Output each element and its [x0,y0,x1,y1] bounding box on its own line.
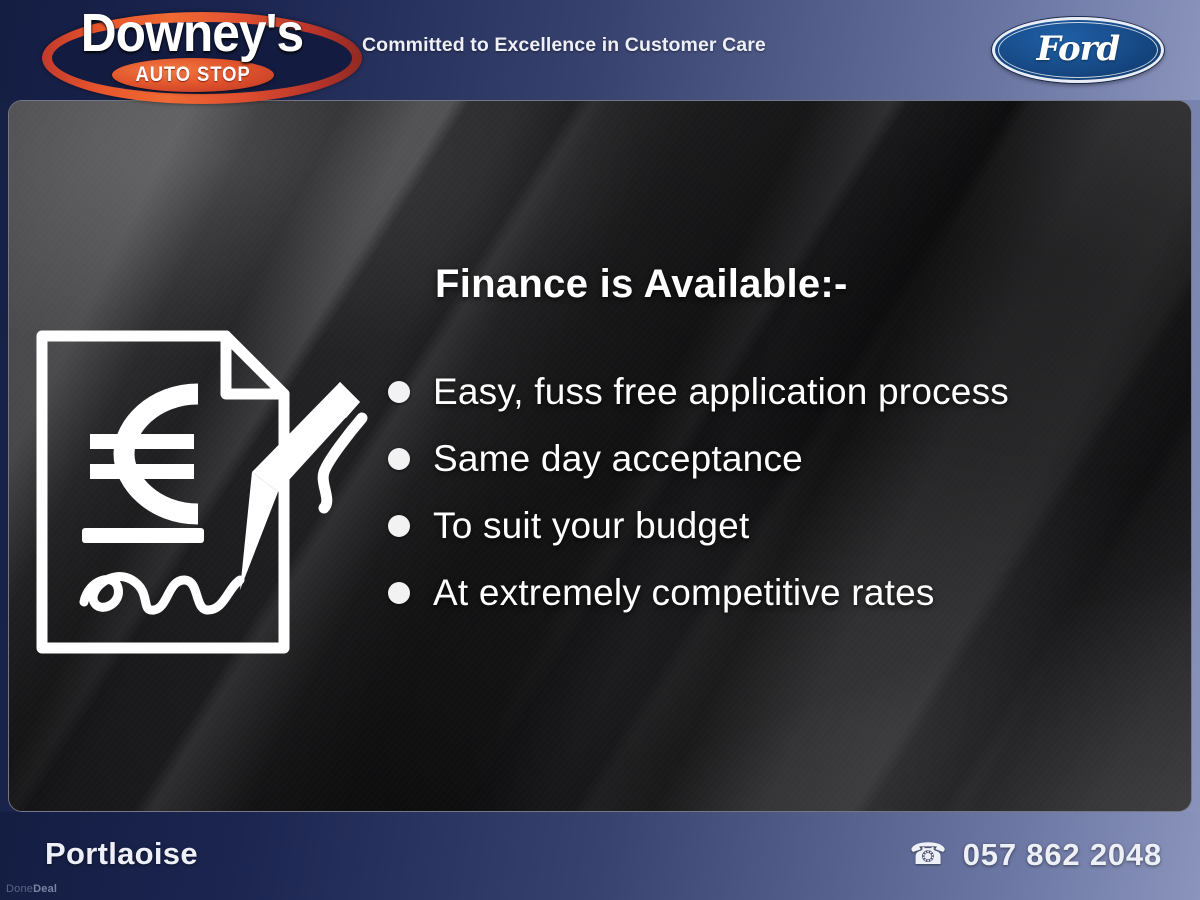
header-bar: Downey's AUTO STOP Committed to Excellen… [0,0,1200,100]
list-item: To suit your budget [375,492,1175,559]
header-tagline: Committed to Excellence in Customer Care [362,34,766,57]
phone-number[interactable]: 057 862 2048 [963,837,1162,873]
benefits-list: Easy, fuss free application process Same… [375,358,1175,626]
telephone-icon: ☎ [909,840,946,870]
page-title: Finance is Available:- [435,262,848,307]
ford-logo[interactable]: Ford [992,17,1164,83]
phone-contact[interactable]: ☎ 057 862 2048 [909,837,1162,873]
list-item: Same day acceptance [375,425,1175,492]
advertisement-banner: Downey's AUTO STOP Committed to Excellen… [0,0,1200,900]
logo-wordmark: Downey's [54,4,330,62]
list-item: Easy, fuss free application process [375,358,1175,425]
watermark-prefix: Done [6,883,33,895]
ford-wordmark: Ford [992,17,1164,83]
watermark-suffix: Deal [33,883,57,895]
donedeal-watermark: DoneDeal [6,883,57,895]
euro-document-signature-icon [28,322,368,662]
footer-bar: Portlaoise ☎ 057 862 2048 [0,812,1200,900]
downeys-logo[interactable]: Downey's AUTO STOP [42,4,342,96]
list-item: At extremely competitive rates [375,559,1175,626]
branch-location: Portlaoise [45,836,198,872]
logo-subtitle: AUTO STOP [122,62,265,87]
